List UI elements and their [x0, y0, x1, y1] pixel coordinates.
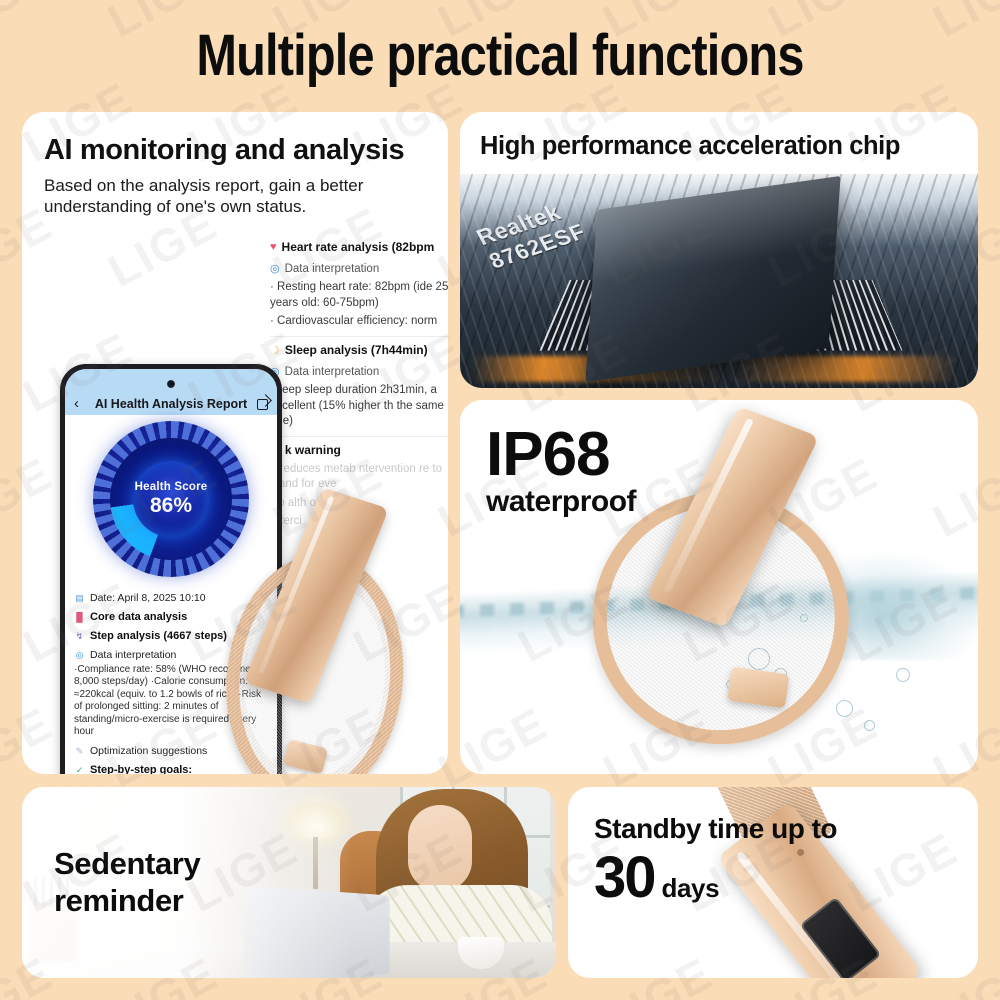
standby-days-number: 30 — [594, 849, 655, 907]
ip68-card-header: IP68 waterproof — [486, 426, 636, 519]
chart-bar-icon: █ — [74, 612, 85, 623]
ai-card-header: AI monitoring and analysis Based on the … — [44, 134, 436, 217]
page-title: Multiple practical functions — [80, 22, 920, 89]
report-column-label: Sleep analysis (7h44min) — [285, 343, 428, 359]
report-column-item[interactable]: ◎Data interpretation — [270, 365, 448, 380]
report-list-item-label: Step-by-step goals: — [90, 764, 192, 774]
report-column-body: g reduces metab ntervention re to stand … — [270, 462, 448, 493]
report-column-item[interactable]: ♥Heart rate analysis (82bpm — [270, 240, 448, 256]
watermark-text: LIGE — [0, 0, 61, 48]
watermark-text: LIGE — [924, 0, 1000, 48]
report-list-item-label: Date: April 8, 2025 10:10 — [90, 592, 206, 604]
gauge-text: Health Score 86% — [135, 481, 208, 518]
card-ai-monitoring: AI monitoring and analysis Based on the … — [22, 112, 448, 774]
pencil-icon: ✎ — [74, 746, 85, 757]
divider — [270, 436, 448, 437]
ip68-rating: IP68 — [486, 426, 636, 483]
report-list-item-label: Data interpretation — [90, 649, 176, 661]
chip-card-heading: High performance acceleration chip — [480, 132, 960, 161]
report-column-item[interactable]: ☽Sleep analysis (7h44min) — [270, 343, 448, 359]
sedentary-line-2: reminder — [54, 882, 200, 919]
ai-card-subtext: Based on the analysis report, gain a bet… — [44, 176, 436, 217]
report-column-item[interactable]: ◎Data interpretation — [270, 262, 448, 277]
ip68-subtitle: waterproof — [486, 485, 636, 519]
card-sedentary-reminder: Sedentary reminder — [22, 787, 556, 978]
checkbox-icon: ✓ — [74, 765, 85, 774]
moon-icon: ☽ — [270, 346, 280, 357]
standby-line-1: Standby time up to — [594, 813, 837, 845]
share-icon[interactable] — [257, 399, 268, 410]
chevron-left-icon[interactable]: ‹ — [74, 396, 79, 411]
calendar-icon: ▤ — [74, 593, 85, 604]
standby-days-unit: days — [662, 873, 720, 904]
magnifier-icon: ◎ — [270, 264, 280, 275]
app-title: AI Health Analysis Report — [95, 397, 247, 411]
bracelet-display — [800, 897, 882, 978]
report-column-label: Heart rate analysis (82bpm — [282, 240, 435, 256]
report-list-item-label: Optimization suggestions — [90, 745, 207, 757]
divider — [270, 336, 448, 337]
report-column-label: k warning — [285, 443, 341, 459]
report-column-label: Data interpretation — [285, 262, 380, 277]
app-header-bar: ‹ AI Health Analysis Report — [65, 369, 277, 415]
report-list-item-label: Step analysis (4667 steps) — [90, 630, 227, 642]
standby-card-header: Standby time up to 30 days — [594, 813, 837, 907]
front-camera-icon — [167, 380, 175, 388]
report-column-body: · Cardiovascular efficiency: norm — [270, 314, 448, 329]
report-list-item-label: Core data analysis — [90, 611, 187, 623]
card-acceleration-chip: Realtek 8762ESF High performance acceler… — [460, 112, 978, 388]
gauge-value: 86% — [135, 494, 208, 518]
report-column-label: Data interpretation — [285, 365, 380, 380]
circuit-board-image: Realtek 8762ESF — [460, 174, 978, 388]
report-column-body: · Resting heart rate: 82bpm (ide 25 year… — [270, 280, 448, 311]
chip-card-header: High performance acceleration chip — [480, 132, 960, 161]
walking-icon: ↯ — [74, 631, 85, 642]
gauge-label: Health Score — [135, 481, 208, 493]
heart-icon: ♥ — [270, 242, 277, 253]
card-ip68-waterproof: IP68 waterproof — [460, 400, 978, 774]
sedentary-card-header: Sedentary reminder — [54, 845, 200, 919]
report-column-item[interactable]: ⚠k warning — [270, 443, 448, 459]
chip-package — [585, 176, 840, 382]
smart-bracelet-product-image — [196, 493, 448, 774]
report-column-body: ·Deep sleep duration 2h31min, a excellen… — [270, 383, 448, 429]
magnifier-icon: ◎ — [74, 650, 85, 661]
ai-card-heading: AI monitoring and analysis — [44, 134, 436, 167]
card-standby-time: Standby time up to 30 days — [568, 787, 978, 978]
standby-value-row: 30 days — [594, 849, 837, 907]
sedentary-line-1: Sedentary — [54, 845, 200, 882]
